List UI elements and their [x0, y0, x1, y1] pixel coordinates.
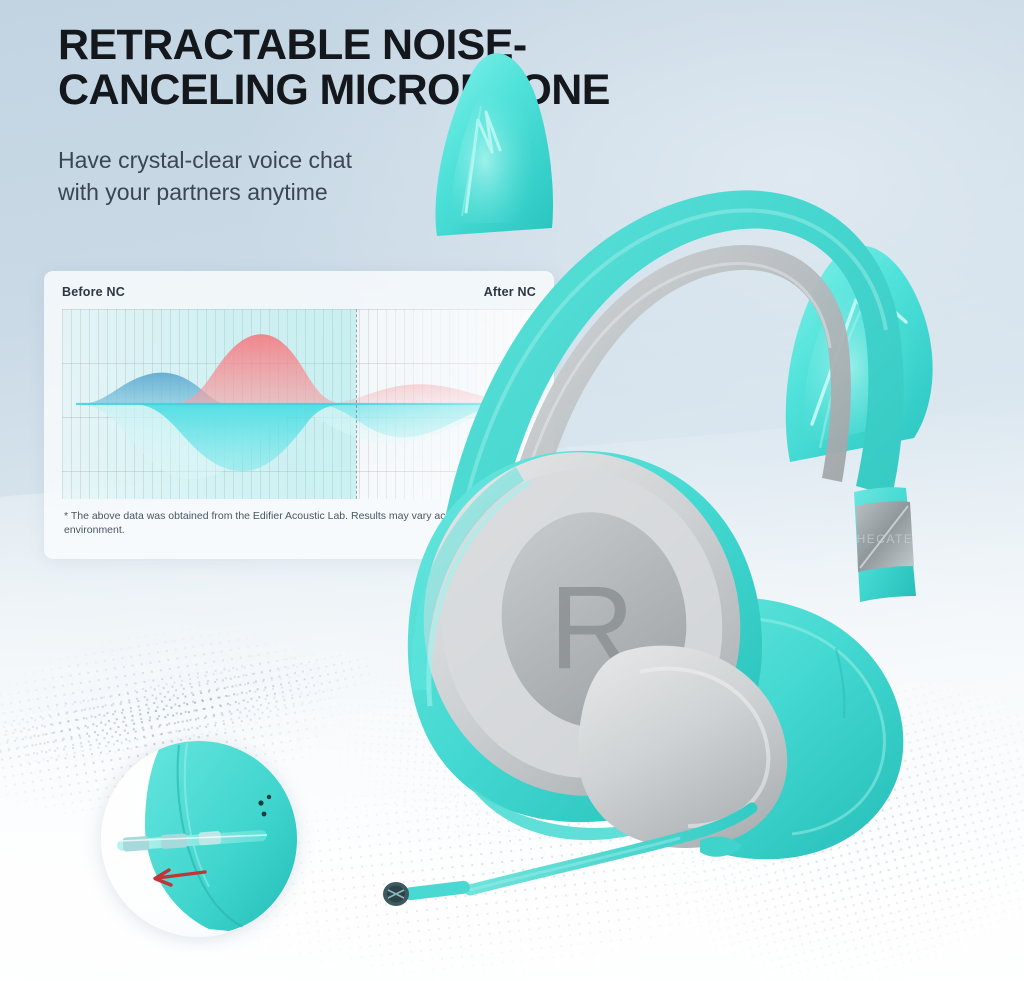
chart-label-before: Before NC	[62, 285, 125, 299]
chart-right-fade	[62, 309, 536, 499]
chart-series-svg	[62, 309, 536, 499]
chart-footnote: * The above data was obtained from the E…	[64, 509, 532, 538]
page-subtitle: Have crystal-clear voice chat with your …	[58, 145, 398, 208]
page-title: RETRACTABLE NOISE-CANCELING MICROPHONE	[58, 23, 698, 114]
chart-nc-divider	[356, 309, 357, 499]
chart-label-after: After NC	[484, 285, 536, 299]
nc-comparison-chart: Before NC After NC	[44, 271, 554, 559]
mic-closeup-svg	[101, 741, 297, 937]
chart-plot-area	[62, 309, 536, 499]
product-marketing-image: RETRACTABLE NOISE-CANCELING MICROPHONE H…	[0, 0, 1024, 981]
mic-closeup-inset	[101, 741, 297, 937]
